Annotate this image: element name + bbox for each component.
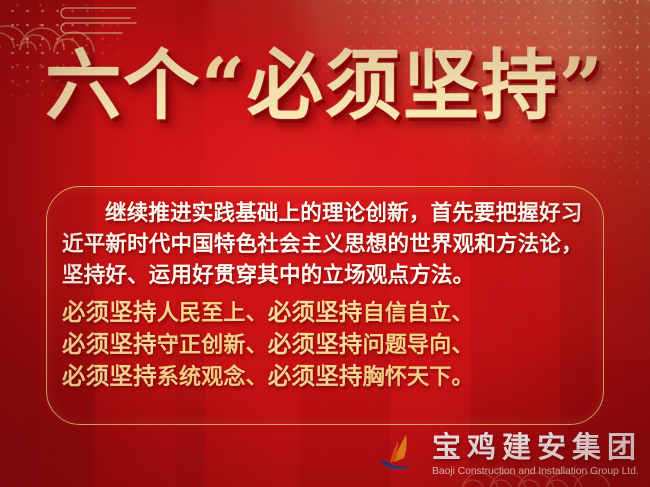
sail-flame-logo-icon [376,431,424,479]
company-logo: 宝鸡建安集团 Baoji Construction and Installati… [376,431,642,479]
company-name-en: Baoji Construction and Installation Grou… [432,466,642,477]
title-quote-open: “ [201,41,247,130]
principle-text: 自信自立、 [363,301,474,326]
principle-emphasis: 必须坚持 [268,330,363,358]
principle-emphasis: 必须坚持 [268,298,363,326]
title-part-main: 六个 [45,41,201,130]
company-logo-text: 宝鸡建安集团 Baoji Construction and Installati… [432,433,642,477]
principle-text: 问题导向、 [363,333,474,358]
principle-emphasis: 必须坚持 [268,362,363,390]
principle-text: 系统观念、 [157,365,268,390]
principle-emphasis: 必须坚持 [62,362,157,390]
principle-text: 守正创新、 [157,333,268,358]
poster-canvas: 六个“必须坚持” 继续推进实践基础上的理论创新，首先要把握好习近平新时代中国特色… [0,0,650,487]
principle-text: 人民至上、 [157,301,268,326]
principles-line: 必须坚持系统观念、必须坚持胸怀天下。 [62,361,590,393]
principle-text: 胸怀天下。 [363,365,474,390]
intro-paragraph: 继续推进实践基础上的理论创新，首先要把握好习近平新时代中国特色社会主义思想的世界… [62,198,590,291]
company-name-cn: 宝鸡建安集团 [432,433,642,462]
title-quote-close: ” [559,41,605,130]
principles-line: 必须坚持守正创新、必须坚持问题导向、 [62,329,590,361]
poster-title-text: 六个“必须坚持” [45,48,604,124]
ruyi-line-ornament-icon [52,4,138,36]
principle-emphasis: 必须坚持 [62,298,157,326]
principle-emphasis: 必须坚持 [62,330,157,358]
poster-title: 六个“必须坚持” [0,48,650,124]
content-card-body: 继续推进实践基础上的理论创新，首先要把握好习近平新时代中国特色社会主义思想的世界… [62,198,590,393]
principles-line: 必须坚持人民至上、必须坚持自信自立、 [62,297,590,329]
principles-list: 必须坚持人民至上、必须坚持自信自立、 必须坚持守正创新、必须坚持问题导向、 必须… [62,297,590,393]
title-part-quoted: 必须坚持 [247,41,559,130]
